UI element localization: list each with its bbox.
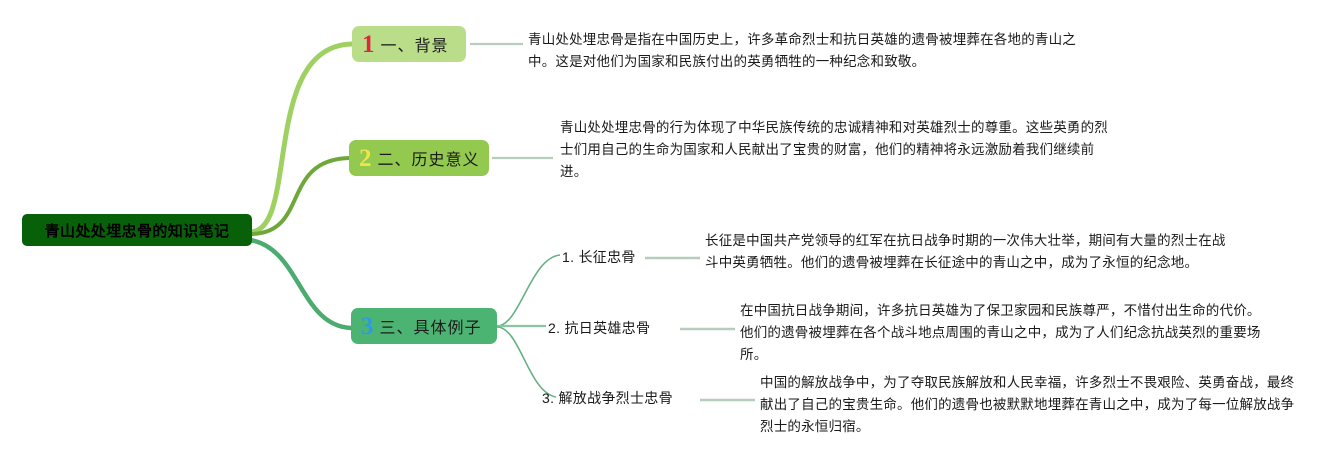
subtopic-label-2[interactable]: 2. 抗日英雄忠骨 [548, 318, 650, 338]
topic-node-1[interactable]: 1 一、背景 [352, 26, 466, 62]
subtopic-body-3: 中国的解放战争中，为了夺取民族解放和人民幸福，许多烈士不畏艰险、英勇奋战，最终献… [760, 372, 1305, 438]
subtopic-label-1[interactable]: 1. 长征忠骨 [562, 247, 636, 267]
connector-topic3-to-sub-1 [497, 255, 560, 326]
topic-label-2: 二、历史意义 [378, 146, 480, 170]
topic-number-1: 1 [362, 32, 375, 57]
topic-number-3: 3 [361, 314, 374, 339]
topic-body-2: 青山处处埋忠骨的行为体现了中华民族传统的忠诚精神和对英雄烈士的尊重。这些英勇的烈… [560, 117, 1116, 183]
root-node[interactable]: 青山处处埋忠骨的知识笔记 [22, 214, 252, 246]
topic-node-3[interactable]: 3 三、具体例子 [351, 308, 497, 344]
topic-node-2[interactable]: 2 二、历史意义 [349, 140, 489, 176]
topic-number-2: 2 [359, 146, 372, 171]
topic-body-1: 青山处处埋忠骨是指在中国历史上，许多革命烈士和抗日英雄的遗骨被埋葬在各地的青山之… [528, 29, 1088, 73]
connector-root-to-topic-3 [250, 240, 351, 328]
connector-root-to-topic-2 [250, 158, 349, 234]
root-node-label: 青山处处埋忠骨的知识笔记 [45, 220, 230, 241]
subtopic-body-2: 在中国抗日战争期间，许多抗日英雄为了保卫家园和民族尊严，不惜付出生命的代价。他们… [740, 300, 1268, 366]
mindmap-canvas: 青山处处埋忠骨的知识笔记 1 一、背景 青山处处埋忠骨是指在中国历史上，许多革命… [0, 0, 1331, 460]
connector-root-to-topic-1 [250, 44, 352, 232]
subtopic-label-3[interactable]: 3. 解放战争烈士忠骨 [542, 388, 673, 408]
topic-label-1: 一、背景 [381, 32, 449, 56]
subtopic-body-1: 长征是中国共产党领导的红军在抗日战争时期的一次伟大壮举，期间有大量的烈士在战斗中… [705, 230, 1235, 274]
topic-label-3: 三、具体例子 [380, 314, 482, 338]
